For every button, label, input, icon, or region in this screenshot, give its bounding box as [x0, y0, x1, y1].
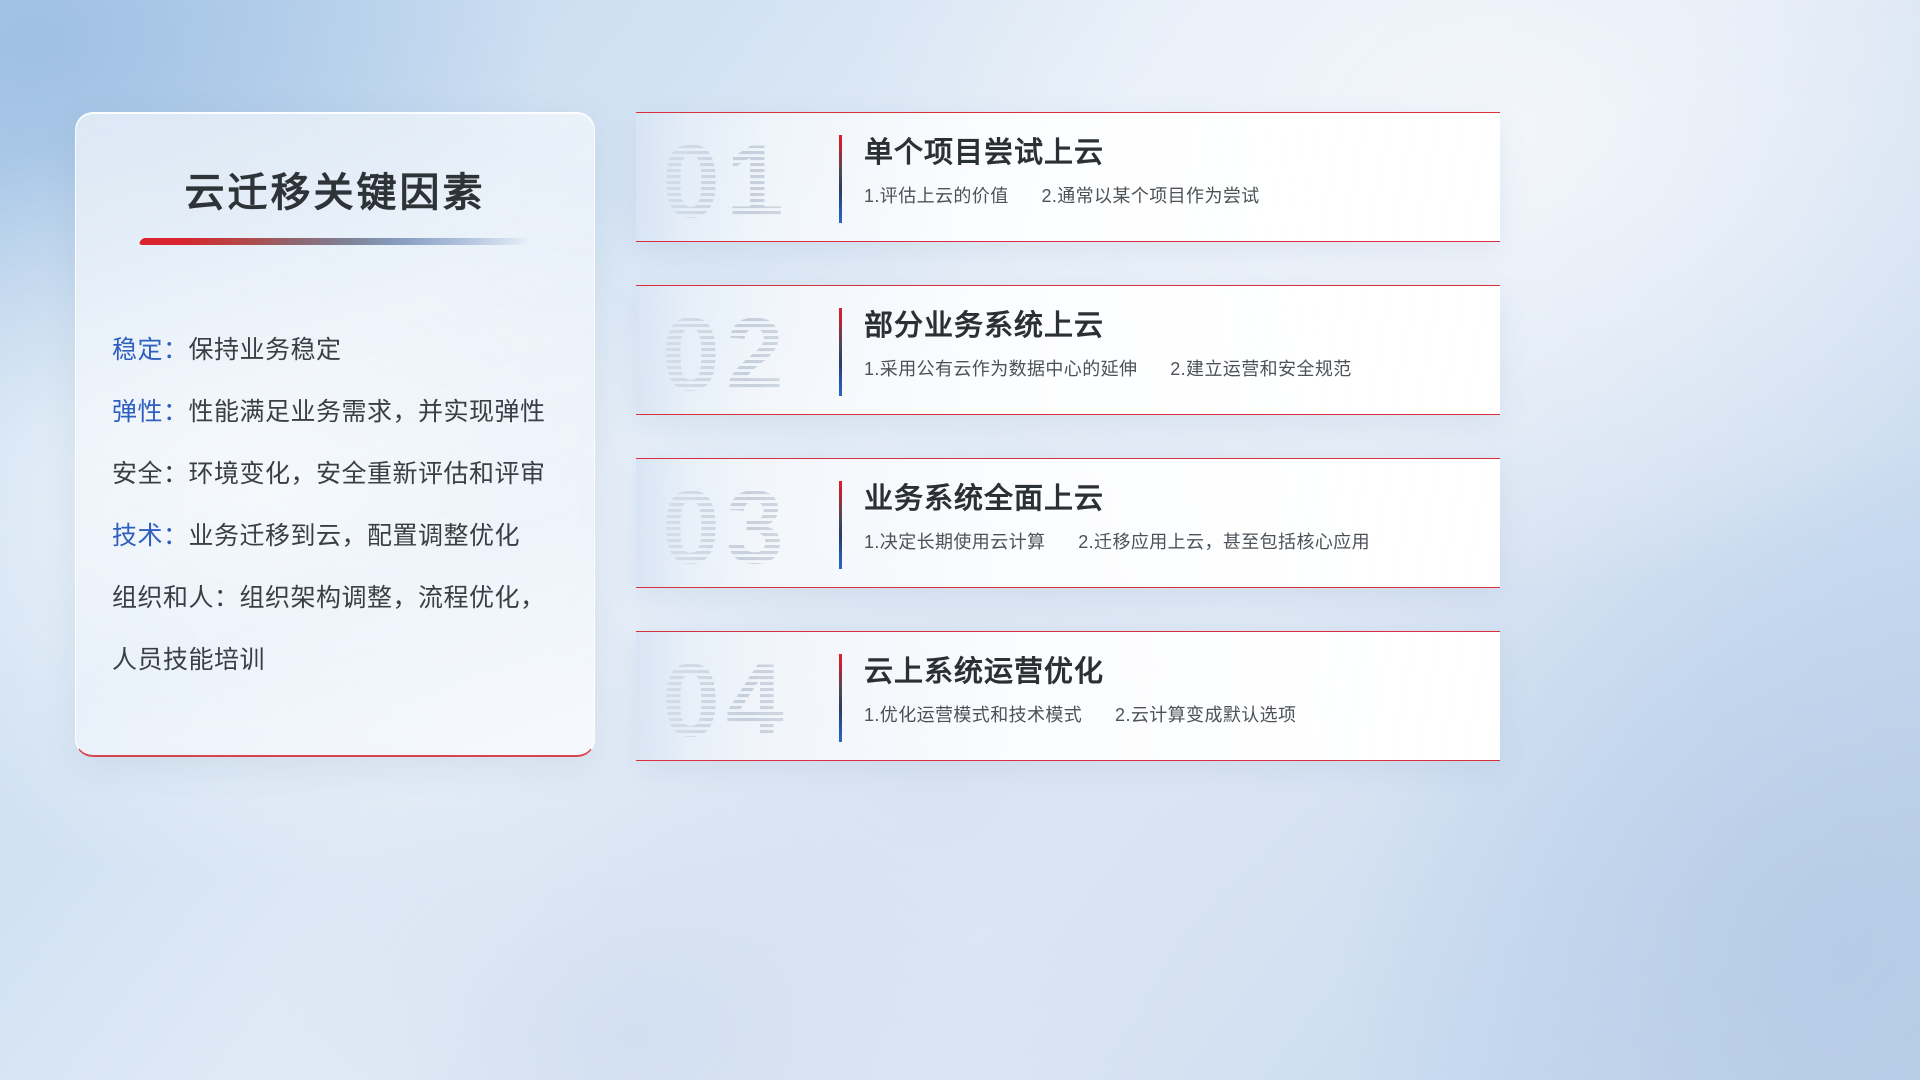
factor-key: 稳定： — [112, 336, 189, 364]
card-title: 云上系统运营优化 — [864, 650, 1476, 694]
stage-number-text: 03 — [662, 473, 790, 575]
card-description-part-1: 1.采用公有云作为数据中心的延伸 — [864, 359, 1137, 379]
stage-card-03[interactable]: 03 业务系统全面上云 1.决定长期使用云计算 2.迁移应用上云，甚至包括核心应… — [636, 458, 1500, 588]
factor-value: 环境变化，安全重新评估和评审 — [189, 460, 546, 488]
title-underline-rule — [138, 238, 531, 245]
factor-value: 业务迁移到云，配置调整优化 — [189, 522, 521, 550]
list-item: 技术：业务迁移到云，配置调整优化 — [112, 505, 564, 567]
list-item: 稳定：保持业务稳定 — [112, 319, 564, 381]
card-description-part-2: 2.云计算变成默认选项 — [1115, 705, 1296, 725]
card-description-part-1: 1.决定长期使用云计算 — [864, 532, 1045, 552]
stage-number-04-icon: 04 — [658, 646, 838, 748]
card-content: 单个项目尝试上云 1.评估上云的价值 2.通常以某个项目作为尝试 — [864, 131, 1476, 209]
card-description-part-2: 2.建立运营和安全规范 — [1170, 359, 1351, 379]
stage-card-01[interactable]: 01 单个项目尝试上云 1.评估上云的价值 2.通常以某个项目作为尝试 — [636, 112, 1500, 242]
card-content: 业务系统全面上云 1.决定长期使用云计算 2.迁移应用上云，甚至包括核心应用 — [864, 477, 1476, 555]
factor-key: 组织和人： — [112, 584, 240, 612]
list-item: 组织和人：组织架构调整，流程优化，人员技能培训 — [112, 567, 564, 691]
key-factors-panel: 云迁移关键因素 稳定：保持业务稳定 弹性：性能满足业务需求，并实现弹性 安全：环… — [75, 112, 595, 757]
migration-stage-cards: 01 单个项目尝试上云 1.评估上云的价值 2.通常以某个项目作为尝试 — [636, 112, 1500, 761]
list-item: 安全：环境变化，安全重新评估和评审 — [112, 443, 564, 505]
stage-number-text: 02 — [662, 300, 790, 402]
card-title: 业务系统全面上云 — [864, 477, 1476, 521]
page-title: 云迁移关键因素 — [76, 160, 594, 218]
card-description: 1.评估上云的价值 2.通常以某个项目作为尝试 — [864, 183, 1476, 209]
stage-number-text: 01 — [662, 127, 790, 229]
card-description-part-1: 1.优化运营模式和技术模式 — [864, 705, 1082, 725]
stage-number-01-icon: 01 — [658, 127, 838, 229]
key-factors-list: 稳定：保持业务稳定 弹性：性能满足业务需求，并实现弹性 安全：环境变化，安全重新… — [76, 319, 594, 691]
factor-key: 安全： — [112, 460, 189, 488]
card-description-part-2: 2.通常以某个项目作为尝试 — [1041, 186, 1259, 206]
card-description: 1.优化运营模式和技术模式 2.云计算变成默认选项 — [864, 702, 1476, 728]
slide-canvas: 云迁移关键因素 稳定：保持业务稳定 弹性：性能满足业务需求，并实现弹性 安全：环… — [0, 0, 1920, 1080]
card-title: 部分业务系统上云 — [864, 304, 1476, 348]
card-accent-divider — [839, 481, 842, 569]
card-description-part-1: 1.评估上云的价值 — [864, 186, 1009, 206]
factor-value: 保持业务稳定 — [189, 336, 342, 364]
stage-number-02-icon: 02 — [658, 300, 838, 402]
factor-key: 技术： — [112, 522, 189, 550]
card-accent-divider — [839, 135, 842, 223]
stage-card-04[interactable]: 04 云上系统运营优化 1.优化运营模式和技术模式 2.云计算变成默认选项 — [636, 631, 1500, 761]
card-description-part-2: 2.迁移应用上云，甚至包括核心应用 — [1078, 532, 1370, 552]
stage-number-03-icon: 03 — [658, 473, 838, 575]
card-accent-divider — [839, 654, 842, 742]
card-content: 云上系统运营优化 1.优化运营模式和技术模式 2.云计算变成默认选项 — [864, 650, 1476, 728]
card-title: 单个项目尝试上云 — [864, 131, 1476, 175]
factor-value: 性能满足业务需求，并实现弹性 — [189, 398, 546, 426]
card-description: 1.决定长期使用云计算 2.迁移应用上云，甚至包括核心应用 — [864, 529, 1476, 555]
stage-number-text: 04 — [662, 646, 790, 748]
card-description: 1.采用公有云作为数据中心的延伸 2.建立运营和安全规范 — [864, 356, 1476, 382]
list-item: 弹性：性能满足业务需求，并实现弹性 — [112, 381, 564, 443]
card-content: 部分业务系统上云 1.采用公有云作为数据中心的延伸 2.建立运营和安全规范 — [864, 304, 1476, 382]
stage-card-02[interactable]: 02 部分业务系统上云 1.采用公有云作为数据中心的延伸 2.建立运营和安全规范 — [636, 285, 1500, 415]
factor-key: 弹性： — [112, 398, 189, 426]
card-accent-divider — [839, 308, 842, 396]
